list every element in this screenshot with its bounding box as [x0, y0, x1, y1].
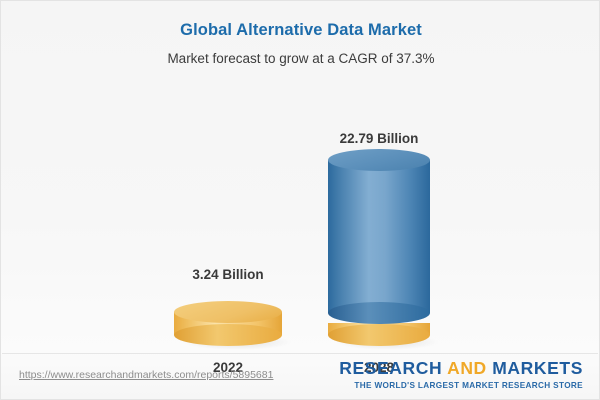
- bar-2022-cap: [174, 301, 282, 323]
- bar-value-label-2028: 22.79 Billion: [340, 131, 419, 146]
- brand-name-and: AND: [447, 358, 487, 378]
- bar-2028-base-bottom: [328, 324, 430, 346]
- brand-name-markets: MARKETS: [487, 358, 583, 378]
- footer-divider: [2, 353, 598, 354]
- bar-2028[interactable]: [328, 149, 430, 324]
- brand-name-research: RESEARCH: [339, 358, 447, 378]
- bar-2028-body: [328, 160, 430, 313]
- source-url-link[interactable]: https://www.researchandmarkets.com/repor…: [19, 369, 273, 381]
- bar-2022-base: [174, 324, 282, 346]
- chart-card: Global Alternative Data Market Market fo…: [0, 0, 600, 400]
- page-title: Global Alternative Data Market: [1, 21, 600, 40]
- brand-tagline: THE WORLD'S LARGEST MARKET RESEARCH STOR…: [339, 382, 583, 390]
- brand-logo[interactable]: RESEARCH AND MARKETS THE WORLD'S LARGEST…: [339, 360, 583, 390]
- bar-value-label-2022: 3.24 Billion: [192, 267, 263, 282]
- bar-2028-bottom: [328, 302, 430, 324]
- chart-subtitle: Market forecast to grow at a CAGR of 37.…: [1, 51, 600, 66]
- plot-area: 3.24 Billion 2022 22.79 Billion: [1, 81, 600, 346]
- bar-2022[interactable]: [174, 301, 282, 346]
- brand-name: RESEARCH AND MARKETS: [339, 360, 583, 378]
- bar-2028-cap: [328, 149, 430, 171]
